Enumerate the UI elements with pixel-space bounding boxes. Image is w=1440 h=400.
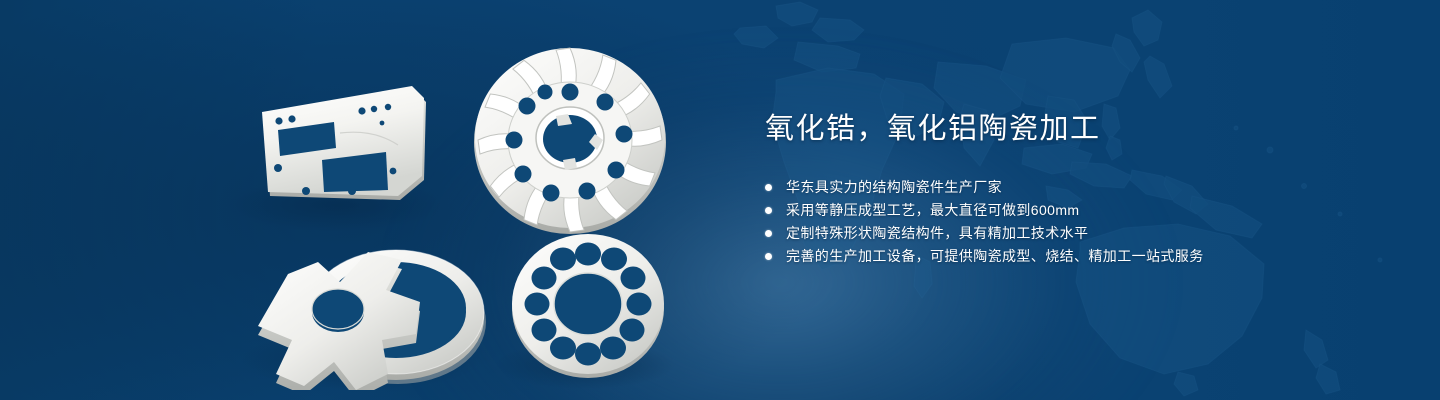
list-item: 定制特殊形状陶瓷结构件，具有精加工技术水平 [765,222,1385,245]
list-item-label: 完善的生产加工设备，可提供陶瓷成型、烧结、精加工一站式服务 [786,248,1204,264]
bullet-dot-icon [765,230,772,237]
page-title: 氧化锆，氧化铝陶瓷加工 [765,108,1385,150]
ceramic-vaned-impeller [474,48,666,234]
bullet-dot-icon [765,253,772,260]
list-item-label: 华东具实力的结构陶瓷件生产厂家 [786,179,1002,195]
list-item: 华东具实力的结构陶瓷件生产厂家 [765,176,1385,199]
ceramic-machined-plate [262,86,426,200]
banner-copy: 氧化锆，氧化铝陶瓷加工 华东具实力的结构陶瓷件生产厂家 采用等静压成型工艺，最大… [765,108,1385,268]
hero-banner: 氧化锆，氧化铝陶瓷加工 华东具实力的结构陶瓷件生产厂家 采用等静压成型工艺，最大… [0,0,1440,400]
list-item: 采用等静压成型工艺，最大直径可做到600mm [765,199,1385,222]
ceramic-products-image [210,30,730,390]
ceramic-perforated-disc [512,234,664,378]
feature-list: 华东具实力的结构陶瓷件生产厂家 采用等静压成型工艺，最大直径可做到600mm 定… [765,176,1385,268]
bullet-dot-icon [765,184,772,191]
list-item-label: 采用等静压成型工艺，最大直径可做到600mm [786,202,1079,218]
list-item-label: 定制特殊形状陶瓷结构件，具有精加工技术水平 [786,225,1088,241]
list-item: 完善的生产加工设备，可提供陶瓷成型、烧结、精加工一站式服务 [765,245,1385,268]
bullet-dot-icon [765,207,772,214]
